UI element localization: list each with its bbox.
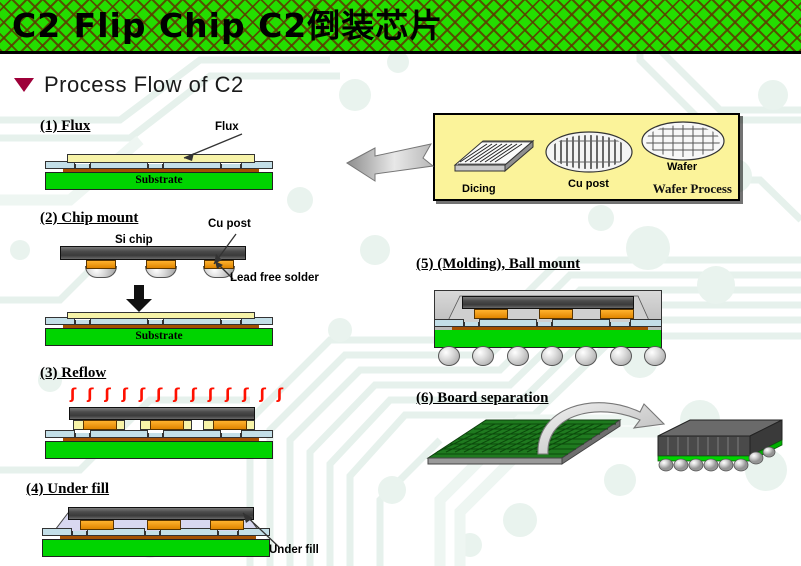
step-5-cross-section — [434, 290, 684, 366]
resist-mid-1 — [479, 319, 537, 327]
title-banner: C2 Flip Chip C2倒装芯片 — [0, 0, 801, 54]
solder-ball — [472, 346, 494, 366]
heat-squiggle-icon: ʃ — [156, 387, 162, 401]
step-2-cross-section: Substrate — [45, 312, 289, 346]
heat-squiggle-icon: ʃ — [139, 387, 145, 401]
step-2-chip-mount: (2) Chip mount Si chip Cu post Lead free… — [40, 210, 360, 345]
step-3-cross-section — [45, 407, 295, 461]
callout-flux: Flux — [215, 121, 239, 133]
substrate-label: Substrate — [46, 174, 272, 186]
cu-post-3 — [600, 309, 634, 319]
heat-squiggle-icon: ʃ — [70, 387, 76, 401]
heat-squiggle-icon: ʃ — [191, 387, 197, 401]
cu-post-2 — [539, 309, 573, 319]
solder-ball-row — [438, 346, 666, 368]
solder-ball — [541, 346, 563, 366]
step-6-label: (6) Board separation — [416, 390, 549, 407]
wafer-caption: Wafer — [667, 161, 697, 173]
resist-gap-1 — [75, 164, 90, 169]
step-3-label: (3) Reflow — [40, 365, 106, 382]
dicing-frame-icon — [449, 131, 535, 181]
cu-post-2 — [147, 520, 181, 530]
heat-squiggle-icon: ʃ — [173, 387, 179, 401]
substrate-layer — [45, 441, 273, 459]
heat-squiggle-icon: ʃ — [277, 387, 283, 401]
resist-gap-3 — [610, 322, 630, 327]
step-2-label: (2) Chip mount — [40, 210, 138, 227]
leader-line-arrow-flux — [170, 130, 250, 164]
resist-gap-2 — [145, 531, 160, 536]
resist-gap-3 — [221, 164, 241, 169]
resist-mid-1 — [90, 430, 148, 438]
resist-gap-2 — [148, 320, 163, 325]
wafer-process-title: Wafer Process — [653, 181, 732, 197]
resist-right — [241, 430, 273, 438]
arrow-down-icon — [125, 285, 153, 313]
cu-post-1 — [80, 520, 114, 530]
cu-post-1 — [474, 309, 508, 319]
substrate-layer: Substrate — [45, 172, 273, 190]
step-4-label: (4) Under fill — [26, 481, 109, 498]
arrow-left-icon — [345, 136, 437, 186]
step-6-board-separation: (6) Board separation — [416, 390, 786, 480]
resist-gap-2 — [148, 433, 163, 438]
resist-right — [630, 319, 662, 327]
resist-left — [42, 528, 72, 536]
resist-left — [45, 430, 75, 438]
flux-layer — [67, 312, 255, 319]
singulated-package-icon — [654, 414, 784, 476]
dicing-caption: Dicing — [462, 183, 496, 195]
wafer-cu-post-icon — [545, 131, 633, 173]
solder-ball — [507, 346, 529, 366]
cu-post-caption: Cu post — [568, 178, 609, 190]
resist-mid-2 — [552, 319, 610, 327]
resist-gap-2 — [537, 322, 552, 327]
si-chip — [462, 296, 634, 309]
resist-gap-2 — [148, 164, 163, 169]
callout-si-chip: Si chip — [115, 234, 153, 246]
heat-squiggle-icon: ʃ — [104, 387, 110, 401]
heat-squiggle-icon: ʃ — [260, 387, 266, 401]
step-5-label: (5) (Molding), Ball mount — [416, 256, 580, 273]
cu-post-2 — [150, 420, 184, 430]
section-heading-label: Process Flow of C2 — [44, 72, 244, 98]
resist-gap-3 — [221, 433, 241, 438]
step-1-flux: (1) Flux Flux Substrate — [40, 118, 340, 193]
substrate-layer: Substrate — [45, 328, 273, 346]
solder-ball — [575, 346, 597, 366]
heat-symbol-row: ʃʃʃʃʃʃʃʃʃʃʃʃʃ — [70, 387, 283, 401]
resist-gap-1 — [75, 320, 90, 325]
cu-post-2 — [146, 260, 176, 269]
wafer-process-box: Dicing Cu post — [433, 113, 740, 201]
si-chip — [68, 507, 254, 520]
callout-lead-free-solder: Lead free solder — [230, 272, 319, 284]
slide-canvas: C2 Flip Chip C2倒装芯片 Process Flow of C2 (… — [0, 0, 801, 566]
solder-ball — [438, 346, 460, 366]
step-3-reflow: (3) Reflow ʃʃʃʃʃʃʃʃʃʃʃʃʃ — [40, 365, 340, 465]
substrate-label: Substrate — [46, 330, 272, 342]
resist-gap-1 — [75, 433, 90, 438]
step-5-ball-mount: (5) (Molding), Ball mount — [416, 256, 716, 366]
heat-squiggle-icon: ʃ — [242, 387, 248, 401]
step-1-cross-section: Substrate — [45, 150, 289, 190]
solder-ball — [644, 346, 666, 366]
cu-post-3 — [213, 420, 247, 430]
triangle-down-icon — [14, 78, 34, 92]
heat-squiggle-icon: ʃ — [122, 387, 128, 401]
resist-gap-1 — [464, 322, 479, 327]
solder-ball — [610, 346, 632, 366]
section-heading: Process Flow of C2 — [14, 72, 244, 98]
si-chip — [69, 407, 255, 420]
resist-gap-1 — [72, 531, 87, 536]
resist-mid-2 — [163, 430, 221, 438]
page-title: C2 Flip Chip C2倒装芯片 — [12, 3, 443, 49]
cu-post-1 — [86, 260, 116, 269]
resist-left — [434, 319, 464, 327]
step-1-label: (1) Flux — [40, 118, 90, 135]
step-4-under-fill: (4) Under fill Under fill — [26, 481, 356, 561]
heat-squiggle-icon: ʃ — [208, 387, 214, 401]
cu-post-1 — [83, 420, 117, 430]
wafer-disc-icon — [641, 121, 725, 161]
callout-cu-post: Cu post — [208, 218, 251, 230]
callout-under-fill: Under fill — [269, 544, 319, 556]
heat-squiggle-icon: ʃ — [225, 387, 231, 401]
resist-gap-3 — [221, 320, 241, 325]
heat-squiggle-icon: ʃ — [87, 387, 93, 401]
